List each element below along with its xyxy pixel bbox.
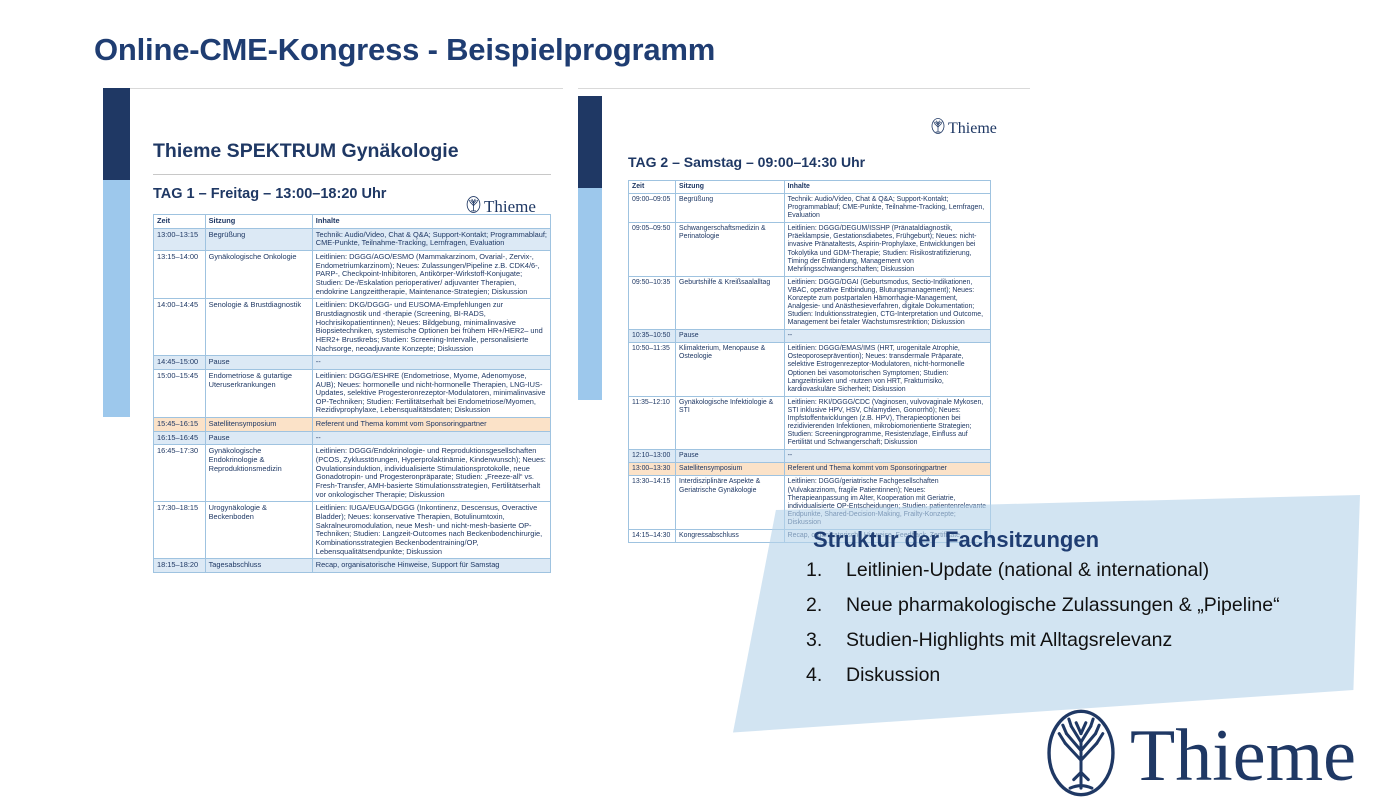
- cell-zeit: 10:50–11:35: [629, 343, 676, 396]
- cell-sitzung: Begrüßung: [205, 228, 312, 250]
- panel-brand-logo: Thieme: [930, 118, 997, 139]
- table-row: 18:15–18:20TagesabschlussRecap, organisa…: [154, 559, 551, 573]
- cell-zeit: 09:05–09:50: [629, 223, 676, 276]
- table-header-row: ZeitSitzungInhalte: [629, 181, 991, 194]
- column-header-inhalte: Inhalte: [784, 181, 990, 194]
- cell-inhalte: Leitlinien: DGGG/ESHRE (Endometriose, My…: [312, 369, 550, 417]
- panel-brand-text: Thieme: [948, 120, 997, 138]
- table-row: 15:45–16:15SatellitensymposiumReferent u…: [154, 418, 551, 432]
- cell-zeit: 09:50–10:35: [629, 276, 676, 329]
- cell-inhalte: Leitlinien: DKG/DGGG- und EUSOMA-Empfehl…: [312, 299, 550, 356]
- cell-sitzung: Pause: [676, 450, 785, 463]
- cell-sitzung: Gynäkologische Endokrinologie & Reproduk…: [205, 445, 312, 502]
- thieme-tree-oval-icon: [930, 118, 946, 139]
- cell-inhalte: Technik: Audio/Video, Chat & Q&A; Suppor…: [784, 194, 990, 223]
- cell-inhalte: Leitlinien: DGGG/AGO/ESMO (Mammakarzinom…: [312, 250, 550, 298]
- cell-inhalte: Leitlinien: RKI/DGGG/CDC (Vaginosen, vul…: [784, 396, 990, 449]
- table-row: 09:05–09:50Schwangerschaftsmedizin & Per…: [629, 223, 991, 276]
- cell-sitzung: Endometriose & gutartige Uteruserkrankun…: [205, 369, 312, 417]
- cell-inhalte: Referent und Thema kommt vom Sponsoringp…: [784, 463, 990, 476]
- cell-zeit: 16:45–17:30: [154, 445, 206, 502]
- panel-divider: [153, 174, 551, 175]
- cell-inhalte: --: [312, 431, 550, 445]
- panel-day-heading-day2: TAG 2 – Samstag – 09:00–14:30 Uhr: [628, 154, 865, 170]
- column-header-inhalte: Inhalte: [312, 215, 550, 229]
- cell-inhalte: --: [312, 356, 550, 370]
- cell-inhalte: Leitlinien: DGGG/geriatrische Fachgesell…: [784, 476, 990, 529]
- table-body: 13:00–13:15BegrüßungTechnik: Audio/Video…: [154, 228, 551, 572]
- cell-sitzung: Pause: [676, 330, 785, 343]
- cell-sitzung: Satellitensymposium: [676, 463, 785, 476]
- cell-zeit: 15:45–16:15: [154, 418, 206, 432]
- cell-zeit: 13:30–14:15: [629, 476, 676, 529]
- cell-zeit: 13:00–13:15: [154, 228, 206, 250]
- thieme-tree-oval-icon: [1042, 707, 1120, 804]
- cell-zeit: 14:00–14:45: [154, 299, 206, 356]
- cell-sitzung: Schwangerschaftsmedizin & Perinatologie: [676, 223, 785, 276]
- accent-bar-light: [103, 180, 130, 417]
- cell-zeit: 13:00–13:30: [629, 463, 676, 476]
- cell-sitzung: Begrüßung: [676, 194, 785, 223]
- cell-inhalte: Leitlinien: DGGG/EMAS/IMS (HRT, urogenit…: [784, 343, 990, 396]
- panel-day-heading-day1: TAG 1 – Freitag – 13:00–18:20 Uhr: [153, 186, 386, 202]
- cell-sitzung: Interdisziplinäre Aspekte & Geriatrische…: [676, 476, 785, 529]
- table-row: 16:45–17:30Gynäkologische Endokrinologie…: [154, 445, 551, 502]
- table-row: 13:30–14:15Interdisziplinäre Aspekte & G…: [629, 476, 991, 529]
- brand-logo: Thieme: [1042, 707, 1356, 804]
- table-row: 10:35–10:50Pause--: [629, 330, 991, 343]
- cell-sitzung: Tagesabschluss: [205, 559, 312, 573]
- cell-inhalte: Referent und Thema kommt vom Sponsoringp…: [312, 418, 550, 432]
- cell-zeit: 12:10–13:00: [629, 450, 676, 463]
- programme-panel-day2: Thieme TAG 2 – Samstag – 09:00–14:30 Uhr…: [578, 88, 1030, 713]
- cell-inhalte: Technik: Audio/Video, Chat & Q&A; Suppor…: [312, 228, 550, 250]
- table-row: 17:30–18:15Urogynäkologie & BeckenbodenL…: [154, 502, 551, 559]
- cell-inhalte: Leitlinien: IUGA/EUGA/DGGG (Inkontinenz,…: [312, 502, 550, 559]
- accent-bar-dark: [578, 96, 602, 188]
- cell-zeit: 15:00–15:45: [154, 369, 206, 417]
- column-header-sitzung: Sitzung: [205, 215, 312, 229]
- panel-top-rule: [103, 88, 563, 89]
- table-row: 09:50–10:35Geburtshilfe & Kreißsaalallta…: [629, 276, 991, 329]
- cell-zeit: 14:45–15:00: [154, 356, 206, 370]
- page-title: Online-CME-Kongress - Beispielprogramm: [94, 32, 715, 68]
- cell-zeit: 13:15–14:00: [154, 250, 206, 298]
- cell-inhalte: --: [784, 450, 990, 463]
- cell-zeit: 17:30–18:15: [154, 502, 206, 559]
- cell-inhalte: Leitlinien: DGGG/DGAI (Geburtsmodus, Sec…: [784, 276, 990, 329]
- cell-sitzung: Urogynäkologie & Beckenboden: [205, 502, 312, 559]
- column-header-zeit: Zeit: [154, 215, 206, 229]
- table-row: 15:00–15:45Endometriose & gutartige Uter…: [154, 369, 551, 417]
- table-row: 12:10–13:00Pause--: [629, 450, 991, 463]
- cell-sitzung: Pause: [205, 431, 312, 445]
- cell-zeit: 16:15–16:45: [154, 431, 206, 445]
- cell-sitzung: Satellitensymposium: [205, 418, 312, 432]
- table-row: 14:00–14:45Senologie & BrustdiagnostikLe…: [154, 299, 551, 356]
- cell-zeit: 10:35–10:50: [629, 330, 676, 343]
- programme-table-day1: ZeitSitzungInhalte 13:00–13:15BegrüßungT…: [153, 214, 551, 573]
- cell-zeit: 09:00–09:05: [629, 194, 676, 223]
- cell-sitzung: Pause: [205, 356, 312, 370]
- brand-name: Thieme: [1130, 719, 1356, 793]
- table-row: 11:35–12:10Gynäkologische Infektiologie …: [629, 396, 991, 449]
- cell-sitzung: Gynäkologische Onkologie: [205, 250, 312, 298]
- programme-panel-day1: Thieme Thieme SPEKTRUM Gynäkologie TAG 1…: [103, 88, 563, 698]
- cell-sitzung: Senologie & Brustdiagnostik: [205, 299, 312, 356]
- cell-zeit: 11:35–12:10: [629, 396, 676, 449]
- cell-sitzung: Gynäkologische Infektiologie & STI: [676, 396, 785, 449]
- panel-title-day1: Thieme SPEKTRUM Gynäkologie: [153, 140, 459, 163]
- table-header-row: ZeitSitzungInhalte: [154, 215, 551, 229]
- slide-canvas: Online-CME-Kongress - Beispielprogramm: [0, 0, 1385, 810]
- table-row: 13:00–13:30SatellitensymposiumReferent u…: [629, 463, 991, 476]
- cell-sitzung: Klimakterium, Menopause & Osteologie: [676, 343, 785, 396]
- programme-table-day2: ZeitSitzungInhalte 09:00–09:05BegrüßungT…: [628, 180, 991, 543]
- cell-inhalte: Recap, organisatorische Hinweise, Feedba…: [784, 529, 990, 542]
- column-header-sitzung: Sitzung: [676, 181, 785, 194]
- cell-sitzung: Kongressabschluss: [676, 529, 785, 542]
- accent-bar-dark: [103, 88, 130, 180]
- table-row: 14:15–14:30KongressabschlussRecap, organ…: [629, 529, 991, 542]
- cell-zeit: 18:15–18:20: [154, 559, 206, 573]
- table-row: 10:50–11:35Klimakterium, Menopause & Ost…: [629, 343, 991, 396]
- cell-inhalte: --: [784, 330, 990, 343]
- table-row: 13:00–13:15BegrüßungTechnik: Audio/Video…: [154, 228, 551, 250]
- table-row: 14:45–15:00Pause--: [154, 356, 551, 370]
- cell-inhalte: Leitlinien: DGGG/Endokrinologie- und Rep…: [312, 445, 550, 502]
- cell-inhalte: Leitlinien: DGGG/DEGUM/ISSHP (Pränataldi…: [784, 223, 990, 276]
- cell-sitzung: Geburtshilfe & Kreißsaalalltag: [676, 276, 785, 329]
- panel-top-rule: [578, 88, 1030, 89]
- accent-bar-light: [578, 188, 602, 400]
- table-row: 16:15–16:45Pause--: [154, 431, 551, 445]
- table-row: 09:00–09:05BegrüßungTechnik: Audio/Video…: [629, 194, 991, 223]
- column-header-zeit: Zeit: [629, 181, 676, 194]
- table-row: 13:15–14:00Gynäkologische OnkologieLeitl…: [154, 250, 551, 298]
- cell-zeit: 14:15–14:30: [629, 529, 676, 542]
- table-body: 09:00–09:05BegrüßungTechnik: Audio/Video…: [629, 194, 991, 543]
- cell-inhalte: Recap, organisatorische Hinweise, Suppor…: [312, 559, 550, 573]
